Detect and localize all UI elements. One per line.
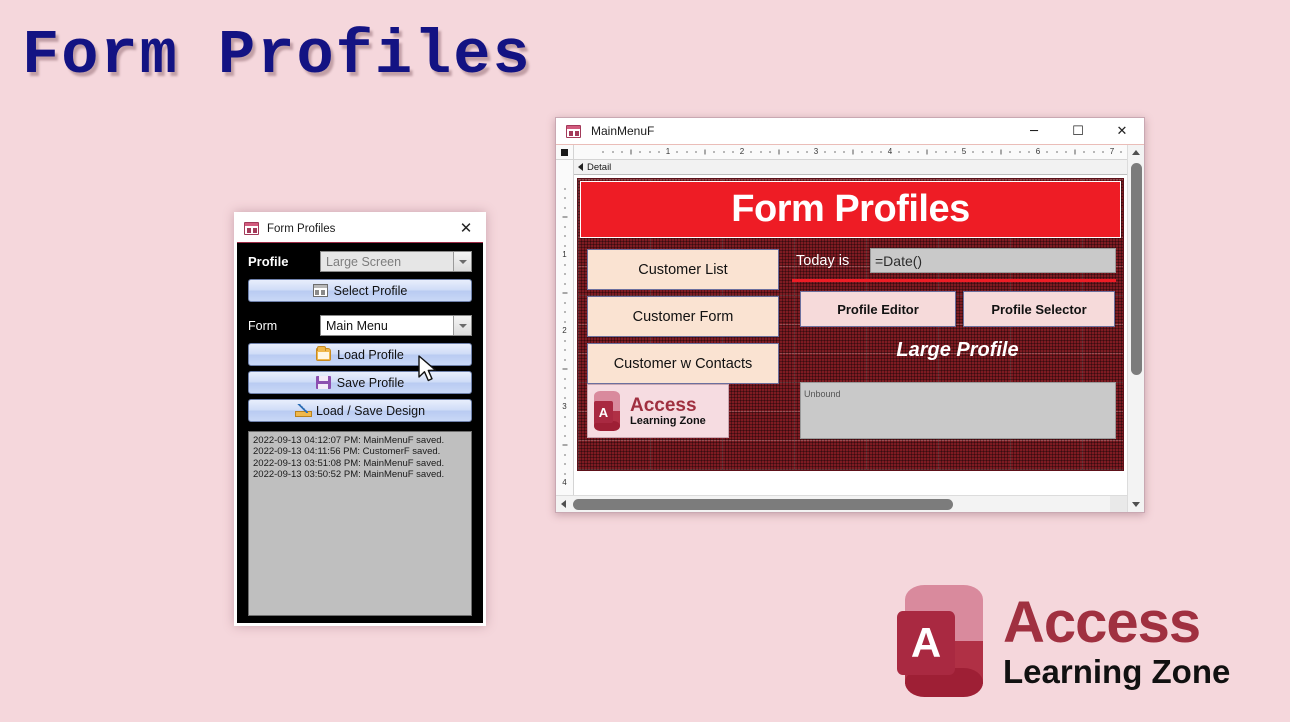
ruler-tick — [982, 151, 983, 153]
form-canvas[interactable]: Form Profiles Customer List Customer For… — [577, 178, 1124, 471]
ruler-tick — [649, 151, 650, 153]
ruler-tick — [677, 151, 678, 153]
ruler-tick — [564, 236, 566, 237]
horizontal-scroll-thumb[interactable] — [573, 499, 953, 510]
ruler-tick — [1019, 151, 1020, 153]
ruler-tick — [936, 151, 937, 153]
customer-list-label: Customer List — [638, 262, 727, 278]
ruler-tick — [927, 150, 928, 155]
access-design-window: MainMenuF ─ ☐ ✕ 1234567 1234 Detail — [555, 117, 1145, 513]
page-title: Form Profiles — [22, 20, 532, 91]
ruler-tick — [1056, 151, 1057, 153]
log-line: 2022-09-13 03:51:08 PM: MainMenuF saved. — [253, 458, 467, 469]
profile-label: Profile — [248, 254, 320, 269]
customer-w-contacts-button[interactable]: Customer w Contacts — [587, 343, 779, 384]
ruler-tick — [564, 207, 566, 208]
horizontal-ruler-track: 1234567 — [574, 145, 1127, 159]
profile-combo-value: Large Screen — [326, 255, 401, 269]
ruler-mark: 5 — [962, 148, 966, 156]
profile-selector-button[interactable]: Profile Selector — [963, 291, 1115, 327]
dialog-body: Profile Large Screen Select Profile Form… — [237, 243, 483, 616]
form-icon — [313, 284, 328, 297]
form-combo-value: Main Menu — [326, 319, 388, 333]
ruler-tick — [562, 217, 567, 218]
access-letter-tile: A — [897, 611, 955, 675]
ruler-tick — [1047, 151, 1048, 153]
profile-combo[interactable]: Large Screen — [320, 251, 472, 272]
detail-section-band[interactable]: Detail — [574, 160, 1127, 175]
ruler-tick — [612, 151, 613, 153]
ruler-tick — [973, 151, 974, 153]
profile-editor-button[interactable]: Profile Editor — [800, 291, 956, 327]
ruler-tick — [658, 151, 659, 153]
ruler-tick — [797, 151, 798, 153]
ruler-tick — [843, 151, 844, 153]
ruler-tick — [806, 151, 807, 153]
ruler-tick — [564, 378, 566, 379]
ruler-tick — [564, 198, 566, 199]
access-body: 1234 Detail Form Profiles Customer List — [556, 160, 1127, 495]
ruler-tick — [1121, 151, 1122, 153]
dialog-title: Form Profiles — [267, 223, 335, 235]
ruler-tick — [564, 435, 566, 436]
ruler-tick — [1065, 151, 1066, 153]
ruler-tick — [862, 151, 863, 153]
ruler-tick — [1028, 151, 1029, 153]
ruler-tick — [564, 226, 566, 227]
maximize-icon[interactable]: ☐ — [1056, 118, 1100, 144]
profile-name-label: Large Profile — [800, 335, 1115, 365]
scrollbar-corner — [1110, 496, 1127, 512]
ruler-tick — [991, 151, 992, 153]
ruler-mark: 6 — [1036, 148, 1040, 156]
ruler-tick — [834, 151, 835, 153]
folder-icon — [316, 348, 331, 361]
save-profile-button[interactable]: Save Profile — [248, 371, 472, 394]
ruler-tick — [1102, 151, 1103, 153]
form-banner[interactable]: Form Profiles — [580, 181, 1121, 238]
vertical-scroll-thumb[interactable] — [1131, 163, 1142, 375]
select-profile-button[interactable]: Select Profile — [248, 279, 472, 302]
access-letter: A — [599, 405, 608, 420]
ruler-tick — [564, 302, 566, 303]
profile-field-row: Profile Large Screen — [248, 251, 472, 272]
ruler-tick — [631, 150, 632, 155]
select-profile-label: Select Profile — [334, 284, 408, 298]
access-letter: A — [911, 619, 941, 667]
scroll-left-icon[interactable] — [556, 496, 571, 512]
ruler-tick — [686, 151, 687, 153]
horizontal-ruler: 1234567 — [556, 145, 1127, 160]
ruler-tick — [825, 151, 826, 153]
ruler-tick — [1093, 151, 1094, 153]
scroll-down-icon[interactable] — [1128, 497, 1144, 512]
log-line: 2022-09-13 03:50:52 PM: MainMenuF saved. — [253, 469, 467, 480]
ruler-tick — [564, 264, 566, 265]
ruler-tick — [564, 388, 566, 389]
close-icon[interactable]: ✕ — [1100, 118, 1144, 144]
ruler-tick — [564, 274, 566, 275]
logo-word-access: Access — [630, 396, 706, 415]
ruler-tick — [779, 150, 780, 155]
ruler-tick — [603, 151, 604, 153]
access-letter-tile: A — [594, 401, 613, 423]
horizontal-scrollbar[interactable] — [556, 495, 1127, 512]
ruler-tick — [945, 151, 946, 153]
ruler-tick — [562, 293, 567, 294]
ruler-tick — [751, 151, 752, 153]
minimize-icon[interactable]: ─ — [1012, 118, 1056, 144]
ruler-tick — [1010, 151, 1011, 153]
ruler-tick — [695, 151, 696, 153]
ruler-tick — [564, 188, 566, 189]
scroll-up-icon[interactable] — [1128, 145, 1144, 160]
form-combo[interactable]: Main Menu — [320, 315, 472, 336]
ruler-tick — [564, 245, 566, 246]
divider-line — [792, 279, 1116, 282]
form-logo-image: A Access Learning Zone — [587, 384, 729, 438]
ruler-tick — [769, 151, 770, 153]
logo-word-learning-zone: Learning Zone — [630, 416, 706, 427]
ruler-tick — [562, 445, 567, 446]
ruler-mark: 1 — [666, 148, 670, 156]
ruler-tick — [732, 151, 733, 153]
ruler-tick — [760, 151, 761, 153]
ruler-tick — [899, 151, 900, 153]
design-surface[interactable]: Detail Form Profiles Customer List Custo… — [574, 160, 1127, 495]
ruler-tick — [1075, 150, 1076, 155]
ruler-tick — [954, 151, 955, 153]
ruler-mark: 3 — [814, 148, 818, 156]
ruler-mark: 4 — [888, 148, 892, 156]
brand-logo: A Access Learning Zone — [905, 585, 1230, 697]
ruler-corner-box[interactable] — [556, 145, 574, 159]
ruler-tick — [880, 151, 881, 153]
ruler-tick — [564, 464, 566, 465]
ruler-tick — [723, 151, 724, 153]
section-expand-icon — [578, 163, 583, 171]
ruler-tick — [564, 473, 566, 474]
access-form-icon — [566, 125, 581, 138]
access-form-icon — [244, 222, 259, 235]
ruler-tick — [564, 454, 566, 455]
ruler-mark: 3 — [562, 403, 566, 411]
ruler-mark: 1 — [562, 251, 566, 259]
access-window-title: MainMenuF — [591, 124, 654, 138]
ruler-tick — [917, 151, 918, 153]
close-icon[interactable]: ✕ — [457, 220, 475, 238]
ruler-tick — [788, 151, 789, 153]
vertical-ruler: 1234 — [556, 160, 574, 495]
profile-selector-label: Profile Selector — [991, 302, 1086, 317]
form-label: Form — [248, 319, 320, 333]
customer-form-label: Customer Form — [633, 309, 734, 325]
ruler-tick — [705, 150, 706, 155]
ruler-tick — [1001, 150, 1002, 155]
load-save-design-label: Load / Save Design — [316, 404, 425, 418]
load-profile-button[interactable]: Load Profile — [248, 343, 472, 366]
form-banner-title: Form Profiles — [731, 188, 969, 231]
profile-editor-label: Profile Editor — [837, 302, 919, 317]
today-is-label: Today is — [796, 248, 870, 273]
save-profile-label: Save Profile — [337, 376, 404, 390]
logo-word-access: Access — [1003, 594, 1230, 652]
ruler-mark: 7 — [1110, 148, 1114, 156]
unbound-label: Unbound — [804, 389, 841, 399]
ruler-tick — [564, 283, 566, 284]
load-profile-label: Load Profile — [337, 348, 404, 362]
log-line: 2022-09-13 04:12:07 PM: MainMenuF saved. — [253, 435, 467, 446]
ruler-tick — [640, 151, 641, 153]
log-line: 2022-09-13 04:11:56 PM: CustomerF saved. — [253, 446, 467, 457]
design-ruler-icon — [295, 404, 310, 417]
ruler-tick — [564, 416, 566, 417]
ruler-tick — [853, 150, 854, 155]
ruler-tick — [564, 397, 566, 398]
ruler-tick — [564, 350, 566, 351]
vertical-scrollbar[interactable] — [1127, 145, 1144, 512]
customer-list-button[interactable]: Customer List — [587, 249, 779, 290]
ruler-tick — [871, 151, 872, 153]
ruler-tick — [908, 151, 909, 153]
ruler-tick — [621, 151, 622, 153]
floppy-disk-icon — [316, 376, 331, 389]
today-date-value: =Date() — [875, 253, 922, 269]
dialog-titlebar: Form Profiles ✕ — [237, 215, 483, 243]
chevron-down-icon[interactable] — [453, 316, 471, 335]
customer-w-contacts-label: Customer w Contacts — [614, 356, 753, 372]
chevron-down-icon[interactable] — [453, 252, 471, 271]
ruler-tick — [564, 340, 566, 341]
ruler-tick — [562, 369, 567, 370]
ruler-tick — [564, 426, 566, 427]
ruler-mark: 4 — [562, 479, 566, 487]
ruler-tick — [1084, 151, 1085, 153]
unbound-textbox[interactable]: Unbound — [800, 382, 1116, 439]
logo-word-learning-zone: Learning Zone — [1003, 655, 1230, 688]
ruler-mark: 2 — [562, 327, 566, 335]
form-profiles-dialog: Form Profiles ✕ Profile Large Screen Sel… — [234, 212, 486, 626]
today-date-textbox[interactable]: =Date() — [870, 248, 1116, 273]
ruler-tick — [564, 321, 566, 322]
window-controls: ─ ☐ ✕ — [1012, 118, 1144, 144]
form-field-row: Form Main Menu — [248, 315, 472, 336]
ruler-mark: 2 — [740, 148, 744, 156]
load-save-design-button[interactable]: Load / Save Design — [248, 399, 472, 422]
ruler-tick — [714, 151, 715, 153]
access-main: 1234567 1234 Detail Form Profiles Cust — [556, 145, 1144, 512]
detail-band-label: Detail — [587, 162, 611, 173]
ruler-tick — [564, 359, 566, 360]
customer-form-button[interactable]: Customer Form — [587, 296, 779, 337]
ruler-tick — [564, 312, 566, 313]
access-left-pane: 1234567 1234 Detail Form Profiles Cust — [556, 145, 1127, 512]
access-titlebar: MainMenuF ─ ☐ ✕ — [556, 118, 1144, 145]
activity-log[interactable]: 2022-09-13 04:12:07 PM: MainMenuF saved.… — [248, 431, 472, 616]
